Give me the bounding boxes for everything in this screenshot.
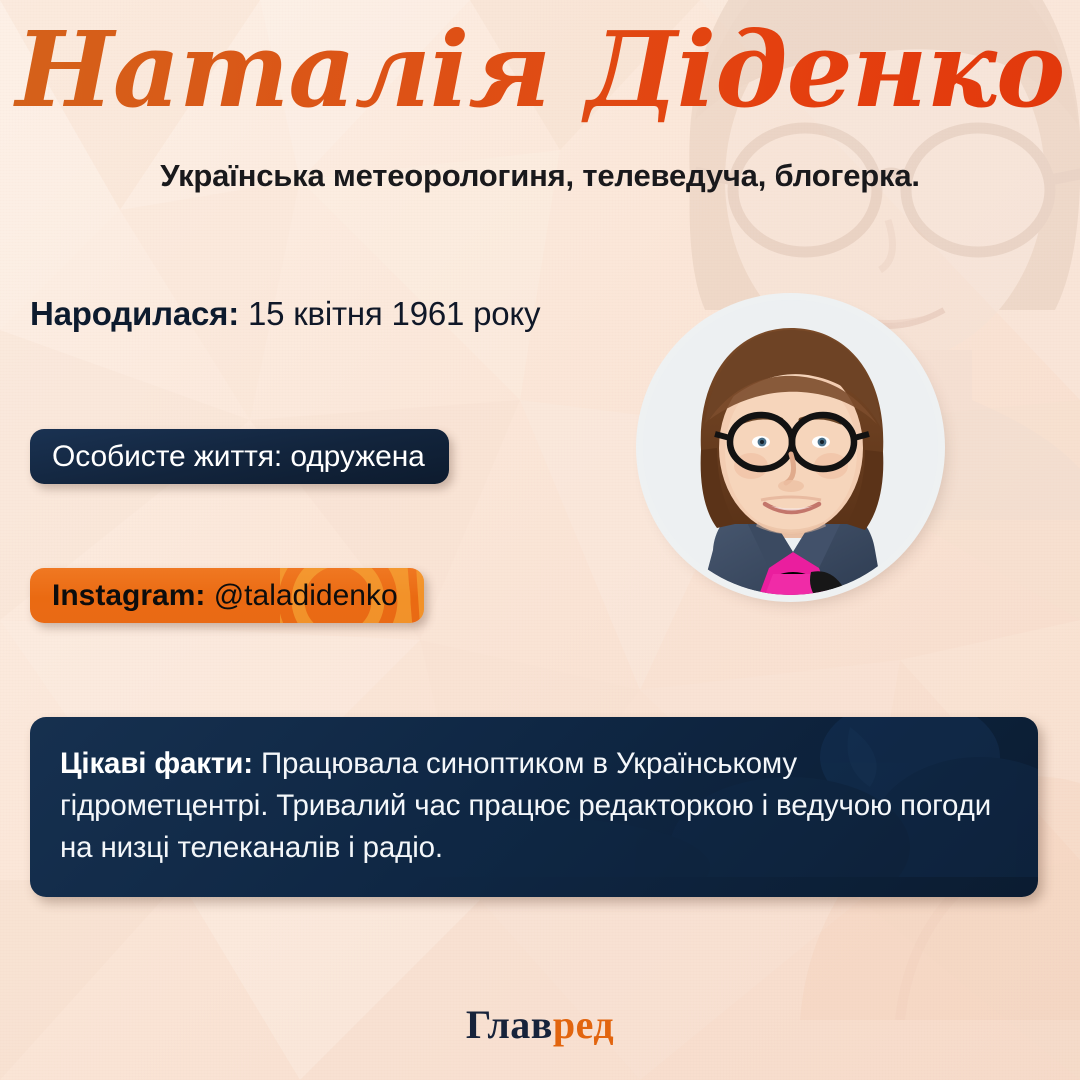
birth-date-line: Народилася: 15 квітня 1961 року — [30, 295, 540, 333]
portrait-avatar — [643, 300, 938, 595]
badge-instagram-text: Instagram: @taladidenko — [52, 579, 398, 613]
fun-facts-text: Цікаві факти: Працювала синоптиком в Укр… — [30, 717, 1038, 897]
infographic-canvas: Наталія Діденко Українська метеорологиня… — [0, 0, 1080, 1080]
brand-logo-part1: Глав — [466, 1002, 553, 1047]
birth-date-value: 15 квітня 1961 року — [248, 295, 540, 332]
badge-instagram-handle: @taladidenko — [214, 579, 398, 612]
badge-personal-life-text: Особисте життя: одружена — [52, 440, 425, 474]
page-subtitle: Українська метеорологиня, телеведуча, бл… — [0, 158, 1080, 194]
page-title: Наталія Діденко — [0, 12, 1080, 128]
badge-personal-life[interactable]: Особисте життя: одружена — [30, 429, 449, 484]
badge-instagram-label: Instagram: — [52, 579, 205, 612]
brand-logo-part2: ред — [553, 1002, 614, 1047]
brand-logo[interactable]: Главред — [0, 1001, 1080, 1048]
badge-instagram[interactable]: Instagram: @taladidenko — [30, 568, 424, 623]
birth-date-label: Народилася: — [30, 295, 239, 332]
fun-facts-box: Цікаві факти: Працювала синоптиком в Укр… — [30, 717, 1038, 897]
fun-facts-label: Цікаві факти: — [60, 747, 253, 780]
